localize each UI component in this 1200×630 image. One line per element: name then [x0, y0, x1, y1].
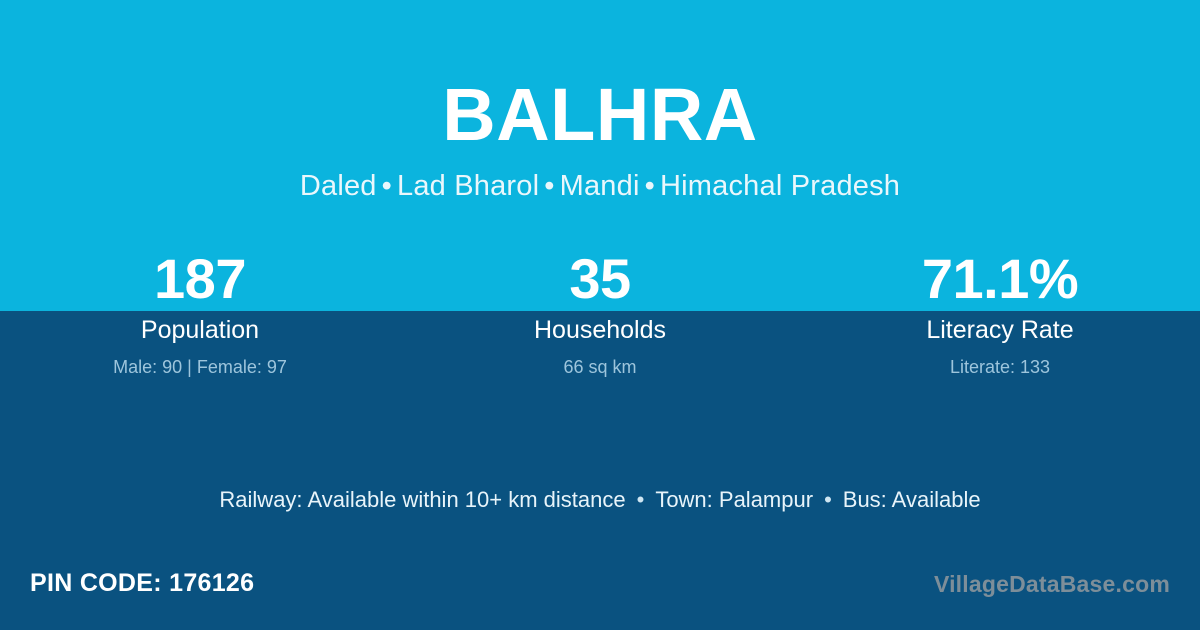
stat-label: Literacy Rate	[800, 316, 1200, 345]
amenity-separator: •	[626, 487, 656, 512]
breadcrumb-item-village: Daled	[300, 170, 377, 202]
stat-value: 35	[400, 248, 800, 310]
card-header: BALHRA Daled•Lad Bharol•Mandi•Himachal P…	[0, 0, 1200, 201]
amenity-railway: Railway: Available within 10+ km distanc…	[219, 487, 625, 512]
statistics-row: 187 Population Male: 90 | Female: 97 35 …	[0, 248, 1200, 378]
breadcrumb-item-district: Mandi	[560, 170, 640, 202]
breadcrumb-separator: •	[640, 170, 660, 202]
pin-code-label: PIN CODE: 176126	[30, 568, 254, 598]
stat-label: Population	[0, 316, 400, 345]
breadcrumb: Daled•Lad Bharol•Mandi•Himachal Pradesh	[0, 152, 1200, 201]
stat-literacy-rate: 71.1% Literacy Rate Literate: 133	[800, 248, 1200, 378]
stat-households: 35 Households 66 sq km	[400, 248, 800, 378]
breadcrumb-separator: •	[377, 170, 397, 202]
breadcrumb-item-subdistrict: Lad Bharol	[397, 170, 539, 202]
stat-value: 187	[0, 248, 400, 310]
amenity-town: Town: Palampur	[655, 487, 813, 512]
stat-subtext: Male: 90 | Female: 97	[0, 356, 400, 378]
amenities-line: Railway: Available within 10+ km distanc…	[0, 486, 1200, 514]
stat-population: 187 Population Male: 90 | Female: 97	[0, 248, 400, 378]
brand-watermark: VillageDataBase.com	[934, 570, 1170, 598]
village-info-card: BALHRA Daled•Lad Bharol•Mandi•Himachal P…	[0, 0, 1200, 630]
amenity-bus: Bus: Available	[843, 487, 981, 512]
stat-label: Households	[400, 316, 800, 345]
stat-value: 71.1%	[800, 248, 1200, 310]
page-title: BALHRA	[0, 0, 1200, 152]
amenity-separator: •	[813, 487, 843, 512]
breadcrumb-separator: •	[539, 170, 559, 202]
breadcrumb-item-state: Himachal Pradesh	[660, 170, 900, 202]
stat-subtext: 66 sq km	[400, 356, 800, 378]
card-footer: PIN CODE: 176126 VillageDataBase.com	[0, 554, 1200, 630]
stat-subtext: Literate: 133	[800, 356, 1200, 378]
